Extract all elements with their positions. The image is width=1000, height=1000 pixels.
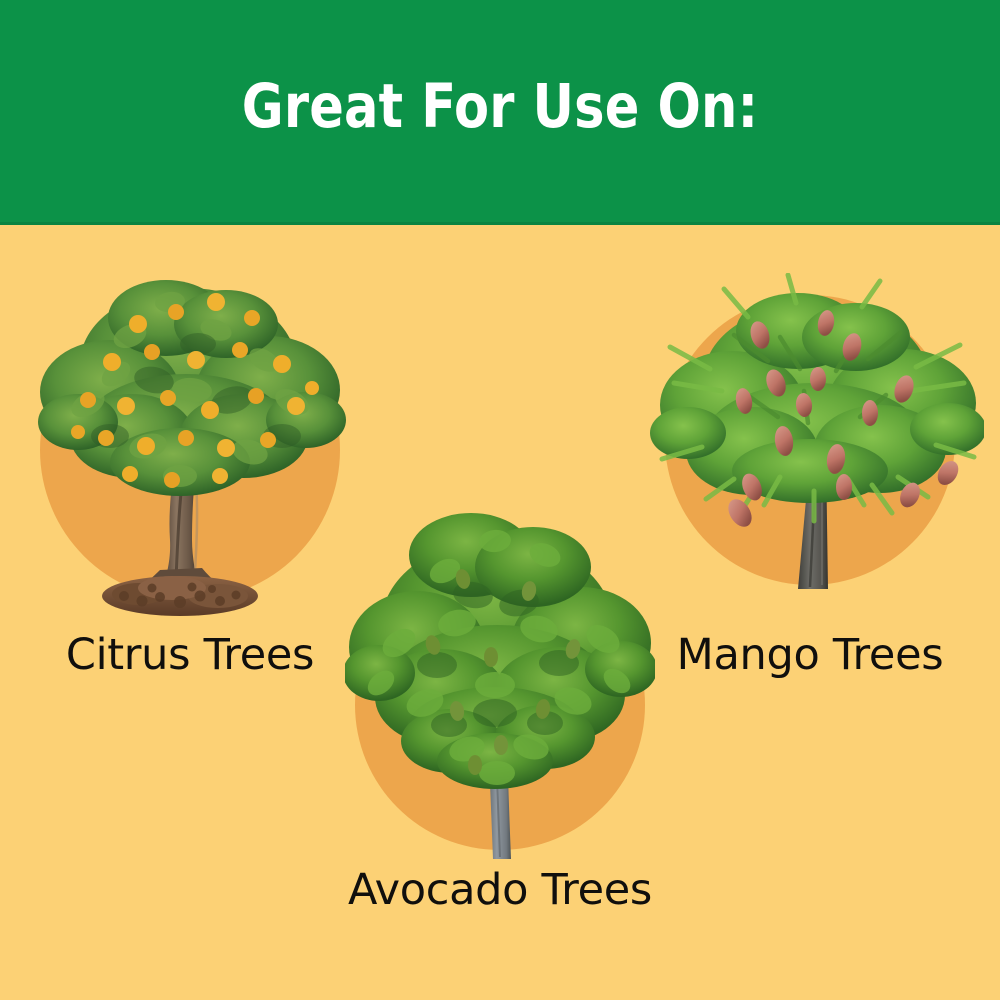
avocado-tree-label: Avocado Trees xyxy=(325,865,675,915)
header-banner: Great For Use On: xyxy=(0,0,1000,225)
citrus-tree-label: Citrus Trees xyxy=(20,630,360,680)
avocado-circle-backdrop xyxy=(355,560,645,850)
tree-gallery: Citrus Trees xyxy=(0,225,1000,1000)
mango-circle-backdrop xyxy=(665,295,955,585)
citrus-circle-backdrop xyxy=(40,300,340,600)
mango-tree-label: Mango Trees xyxy=(640,630,980,680)
promo-poster: Great For Use On: xyxy=(0,0,1000,1000)
page-title: Great For Use On: xyxy=(35,74,965,140)
